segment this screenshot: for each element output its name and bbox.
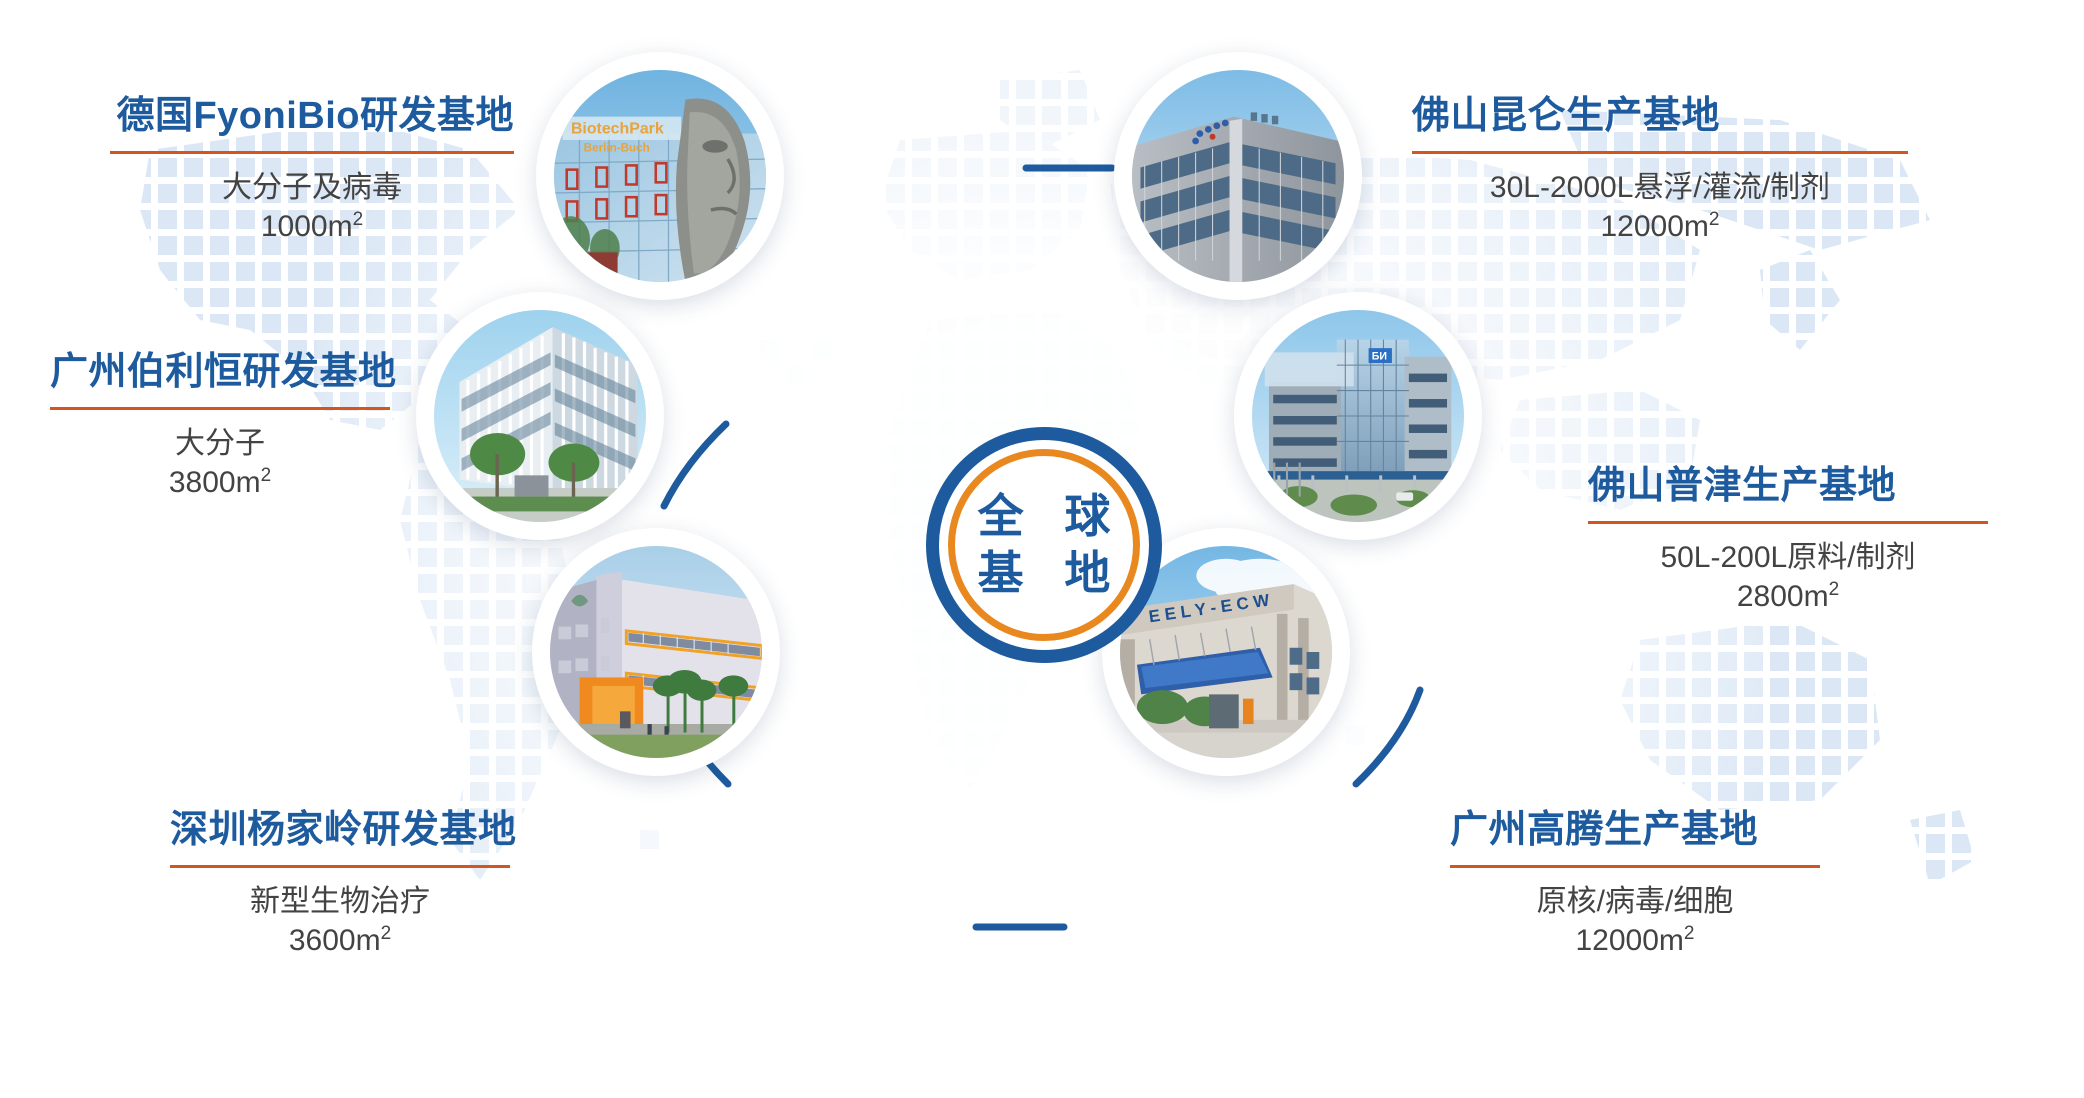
label-sub-guangzhou-gaoteng: 原核/病毒/细胞 12000m2 bbox=[1450, 882, 1820, 961]
label-subline1-foshan-pujin: 50L-200L原料/制剂 bbox=[1588, 538, 1988, 578]
label-rule-foshan-pujin bbox=[1588, 521, 1988, 524]
label-subline1-shenzhen-yangjialing: 新型生物治疗 bbox=[170, 882, 510, 922]
label-rule-foshan-kunlun bbox=[1412, 151, 1908, 154]
photo-circle-germany-fyonibio[interactable]: BiotechPark Berlin-Buch bbox=[536, 52, 784, 300]
center-emblem-inner-ring: 全 球 基 地 bbox=[948, 449, 1140, 641]
label-title-germany-fyonibio: 德国FyoniBio研发基地 bbox=[110, 96, 514, 138]
label-rule-guangzhou-gaoteng bbox=[1450, 865, 1820, 868]
blue-glass-campus-photo: БИ bbox=[1252, 310, 1464, 522]
label-subline1-foshan-kunlun: 30L-2000L悬浮/灌流/制剂 bbox=[1412, 168, 1908, 208]
svg-text:BiotechPark: BiotechPark bbox=[571, 121, 664, 138]
center-title-line2: 基 地 bbox=[964, 545, 1125, 603]
white-louvered-office-building-photo bbox=[434, 310, 646, 522]
label-title-guangzhou-boliheng: 广州伯利恒研发基地 bbox=[50, 352, 390, 394]
label-title-shenzhen-yangjialing: 深圳杨家岭研发基地 bbox=[170, 810, 510, 852]
global-bases-infographic: BiotechPark Berlin-Buch bbox=[0, 0, 2084, 1098]
label-subline1-germany-fyonibio: 大分子及病毒 bbox=[110, 168, 514, 208]
label-foshan-kunlun: 佛山昆仑生产基地 30L-2000L悬浮/灌流/制剂 12000m2 bbox=[1412, 96, 1908, 247]
label-subline1-guangzhou-gaoteng: 原核/病毒/细胞 bbox=[1450, 882, 1820, 922]
center-title-line1: 全 球 bbox=[964, 488, 1125, 546]
label-area-germany-fyonibio: 1000m2 bbox=[110, 207, 514, 247]
label-sub-guangzhou-boliheng: 大分子 3800m2 bbox=[50, 424, 390, 503]
label-germany-fyonibio: 德国FyoniBio研发基地 大分子及病毒 1000m2 bbox=[110, 96, 514, 247]
grey-glass-facade-plant-photo bbox=[1132, 70, 1344, 282]
label-rule-germany-fyonibio bbox=[110, 151, 514, 154]
label-rule-guangzhou-boliheng bbox=[50, 407, 390, 410]
label-foshan-pujin: 佛山普津生产基地 50L-200L原料/制剂 2800m2 bbox=[1588, 466, 1988, 617]
photo-circle-foshan-pujin[interactable]: БИ bbox=[1234, 292, 1482, 540]
label-shenzhen-yangjialing: 深圳杨家岭研发基地 新型生物治疗 3600m2 bbox=[170, 810, 510, 961]
label-sub-foshan-pujin: 50L-200L原料/制剂 2800m2 bbox=[1588, 538, 1988, 617]
label-area-shenzhen-yangjialing: 3600m2 bbox=[170, 921, 510, 961]
label-sub-germany-fyonibio: 大分子及病毒 1000m2 bbox=[110, 168, 514, 247]
label-title-foshan-kunlun: 佛山昆仑生产基地 bbox=[1412, 96, 1908, 138]
label-area-guangzhou-gaoteng: 12000m2 bbox=[1450, 921, 1820, 961]
label-guangzhou-gaoteng: 广州高腾生产基地 原核/病毒/细胞 12000m2 bbox=[1450, 810, 1820, 961]
svg-text:БИ: БИ bbox=[1372, 351, 1387, 363]
photo-circle-foshan-kunlun[interactable] bbox=[1114, 52, 1362, 300]
center-emblem: 全 球 基 地 bbox=[926, 427, 1162, 663]
label-title-foshan-pujin: 佛山普津生产基地 bbox=[1588, 466, 1988, 508]
label-area-foshan-kunlun: 12000m2 bbox=[1412, 207, 1908, 247]
photo-circle-shenzhen-yangjialing[interactable] bbox=[532, 528, 780, 776]
label-sub-shenzhen-yangjialing: 新型生物治疗 3600m2 bbox=[170, 882, 510, 961]
label-title-guangzhou-gaoteng: 广州高腾生产基地 bbox=[1450, 810, 1820, 852]
label-rule-shenzhen-yangjialing bbox=[170, 865, 510, 868]
photo-circle-guangzhou-boliheng[interactable] bbox=[416, 292, 664, 540]
biotechpark-berlin-buch-photo: BiotechPark Berlin-Buch bbox=[554, 70, 766, 282]
label-area-foshan-pujin: 2800m2 bbox=[1588, 577, 1988, 617]
label-area-guangzhou-boliheng: 3800m2 bbox=[50, 463, 390, 503]
label-subline1-guangzhou-boliheng: 大分子 bbox=[50, 424, 390, 464]
orange-accent-lab-building-photo bbox=[550, 546, 762, 758]
label-sub-foshan-kunlun: 30L-2000L悬浮/灌流/制剂 12000m2 bbox=[1412, 168, 1908, 247]
label-guangzhou-boliheng: 广州伯利恒研发基地 大分子 3800m2 bbox=[50, 352, 390, 503]
svg-text:Berlin-Buch: Berlin-Buch bbox=[584, 142, 650, 155]
